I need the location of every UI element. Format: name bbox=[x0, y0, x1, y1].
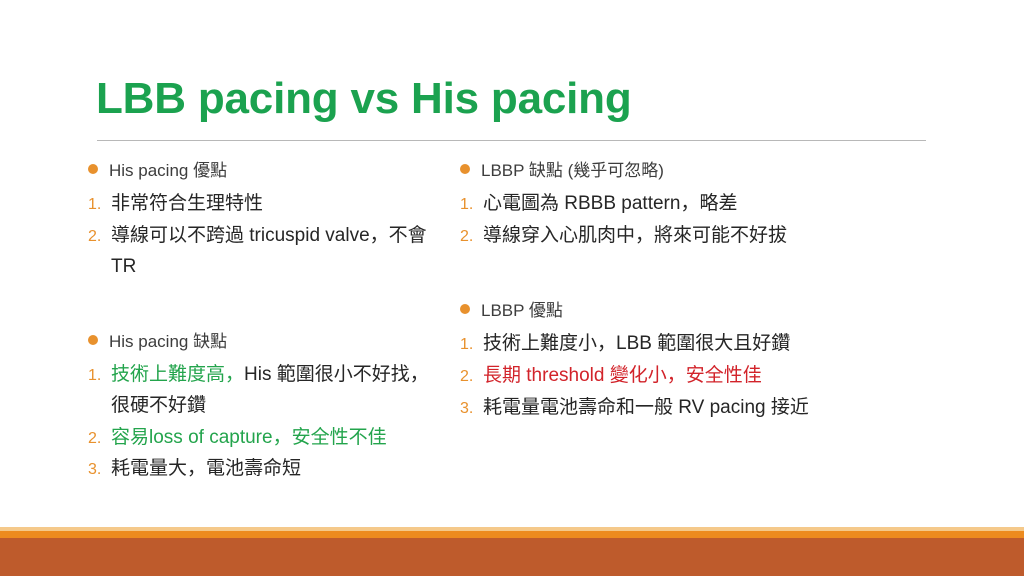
list-item: 2.容易loss of capture，安全性不佳 bbox=[88, 423, 430, 454]
text-run: 技術上難度小，LBB 範圍很大且好鑽 bbox=[483, 333, 790, 354]
bullet-dot-icon bbox=[460, 164, 470, 174]
list-item: 2.長期 threshold 變化小，安全性佳 bbox=[460, 361, 920, 392]
list-item-number: 2. bbox=[460, 224, 483, 250]
list-item-text: 耗電量大，電池壽命短 bbox=[111, 454, 430, 485]
text-run: 耗電量電池壽命和一般 RV pacing 接近 bbox=[483, 397, 809, 418]
bullet-dot-icon bbox=[460, 304, 470, 314]
list-item: 1.非常符合生理特性 bbox=[88, 189, 430, 220]
list-item: 2.導線穿入心肌肉中，將來可能不好拔 bbox=[460, 221, 920, 252]
slide-root: { "slide": { "title": "LBB pacing vs His… bbox=[0, 0, 1024, 576]
bullet-block: His pacing 優點1.非常符合生理特性2.導線可以不跨過 tricusp… bbox=[88, 158, 430, 283]
list-item: 1.技術上難度高，His 範圍很小不好找，很硬不好鑽 bbox=[88, 360, 430, 422]
list-item-number: 3. bbox=[460, 396, 483, 422]
content-columns: His pacing 優點1.非常符合生理特性2.導線可以不跨過 tricusp… bbox=[0, 158, 1024, 486]
bullet-block: His pacing 缺點1.技術上難度高，His 範圍很小不好找，很硬不好鑽2… bbox=[88, 329, 430, 485]
bullet-heading-label: LBBP 缺點 (幾乎可忽略) bbox=[481, 158, 664, 184]
bullet-heading: LBBP 缺點 (幾乎可忽略) bbox=[460, 158, 920, 184]
list-item-number: 1. bbox=[460, 192, 483, 218]
list-item-text: 導線穿入心肌肉中，將來可能不好拔 bbox=[483, 221, 920, 252]
list-item-text: 技術上難度小，LBB 範圍很大且好鑽 bbox=[483, 329, 920, 360]
list-item: 1.技術上難度小，LBB 範圍很大且好鑽 bbox=[460, 329, 920, 360]
list-item-text: 容易loss of capture，安全性不佳 bbox=[111, 423, 430, 454]
list-item-number: 2. bbox=[88, 426, 111, 452]
bullet-heading-label: LBBP 優點 bbox=[481, 298, 563, 324]
list-item: 1.心電圖為 RBBB pattern，略差 bbox=[460, 189, 920, 220]
list-item-text: 非常符合生理特性 bbox=[111, 189, 430, 220]
list-item: 3.耗電量電池壽命和一般 RV pacing 接近 bbox=[460, 393, 920, 424]
bullet-heading: His pacing 缺點 bbox=[88, 329, 430, 355]
list-item-number: 3. bbox=[88, 457, 111, 483]
list-item-number: 2. bbox=[460, 364, 483, 390]
bullet-block: LBBP 缺點 (幾乎可忽略)1.心電圖為 RBBB pattern，略差2.導… bbox=[460, 158, 920, 252]
list-item-text: 心電圖為 RBBB pattern，略差 bbox=[483, 189, 920, 220]
text-run: 長期 threshold 變化小，安全性佳 bbox=[483, 365, 762, 386]
bullet-dot-icon bbox=[88, 335, 98, 345]
page-title: LBB pacing vs His pacing bbox=[96, 76, 632, 122]
footer-bar-orange bbox=[0, 531, 1024, 538]
list-item-number: 2. bbox=[88, 224, 111, 250]
list-item: 2.導線可以不跨過 tricuspid valve，不會TR bbox=[88, 221, 430, 283]
text-run: 技術上難度高， bbox=[111, 364, 244, 385]
list-item-text: 導線可以不跨過 tricuspid valve，不會TR bbox=[111, 221, 430, 283]
footer-bar-brick bbox=[0, 538, 1024, 576]
right-column: LBBP 缺點 (幾乎可忽略)1.心電圖為 RBBB pattern，略差2.導… bbox=[430, 158, 920, 486]
text-run: 導線穿入心肌肉中，將來可能不好拔 bbox=[483, 225, 787, 246]
text-run: 耗電量大，電池壽命短 bbox=[111, 458, 301, 479]
text-run: 非常符合生理特性 bbox=[111, 193, 263, 214]
bullet-heading: His pacing 優點 bbox=[88, 158, 430, 184]
bullet-block: LBBP 優點1.技術上難度小，LBB 範圍很大且好鑽2.長期 threshol… bbox=[460, 298, 920, 424]
bullet-heading-label: His pacing 缺點 bbox=[109, 329, 227, 355]
bullet-heading-label: His pacing 優點 bbox=[109, 158, 227, 184]
list-item-text: 耗電量電池壽命和一般 RV pacing 接近 bbox=[483, 393, 920, 424]
text-run: 導線可以不跨過 tricuspid valve，不會TR bbox=[111, 225, 427, 277]
list-item-number: 1. bbox=[88, 363, 111, 389]
title-divider bbox=[97, 140, 926, 141]
list-item: 3.耗電量大，電池壽命短 bbox=[88, 454, 430, 485]
list-item-text: 長期 threshold 變化小，安全性佳 bbox=[483, 361, 920, 392]
list-item-text: 技術上難度高，His 範圍很小不好找，很硬不好鑽 bbox=[111, 360, 430, 422]
bullet-heading: LBBP 優點 bbox=[460, 298, 920, 324]
text-run: 心電圖為 RBBB pattern，略差 bbox=[483, 193, 737, 214]
list-item-number: 1. bbox=[88, 192, 111, 218]
text-run: 容易loss of capture，安全性不佳 bbox=[111, 427, 387, 448]
left-column: His pacing 優點1.非常符合生理特性2.導線可以不跨過 tricusp… bbox=[0, 158, 430, 486]
bullet-dot-icon bbox=[88, 164, 98, 174]
list-item-number: 1. bbox=[460, 332, 483, 358]
